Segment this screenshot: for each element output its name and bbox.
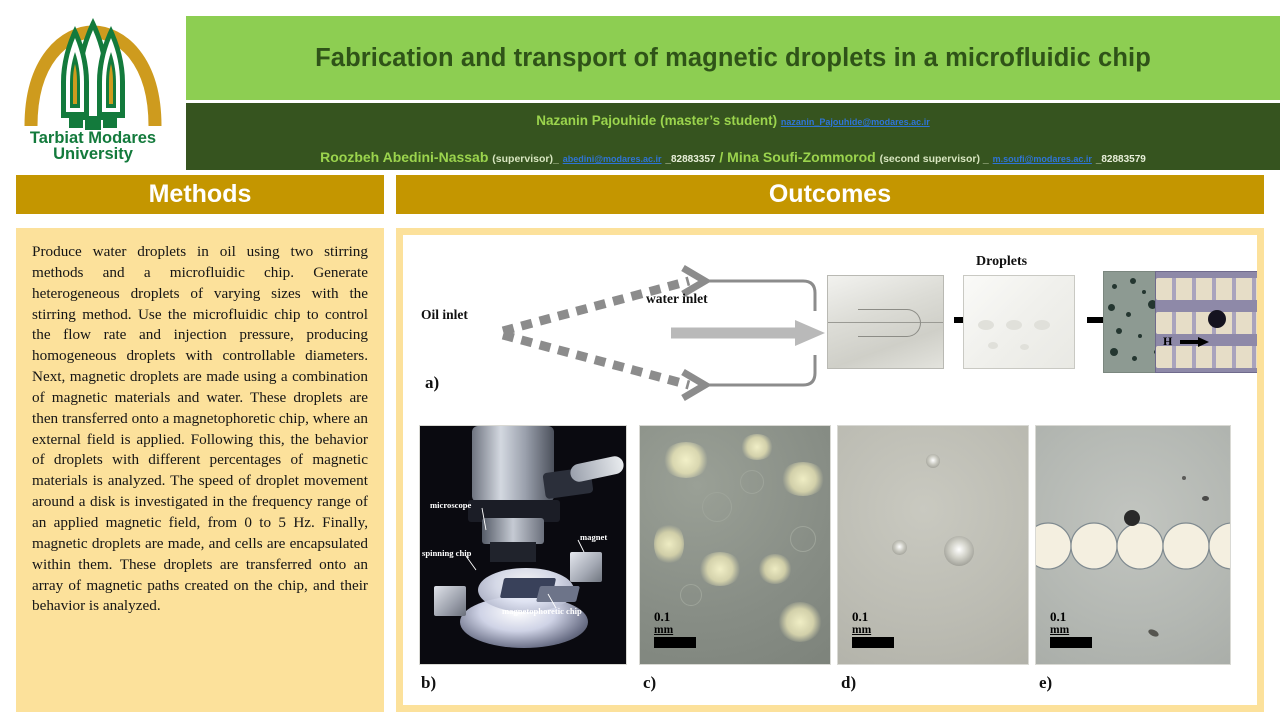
field-direction-arrow-icon xyxy=(1180,336,1210,348)
scale-bar-rect-d xyxy=(852,637,894,648)
label-magnet: magnet xyxy=(580,532,607,542)
label-magnetophoretic-chip: magnetophoretic chip xyxy=(502,606,582,616)
field-label-H: H xyxy=(1163,334,1172,349)
figure-a-schematic: H Oil inlet water inlet Droplets a) xyxy=(403,235,1257,411)
chip-blob xyxy=(1020,344,1029,350)
scale-value-d: 0.1 xyxy=(852,610,894,624)
label-microscope: microscope xyxy=(430,500,471,510)
panel-letter-d: d) xyxy=(841,673,856,693)
poster-title-bar: Fabrication and transport of magnetic dr… xyxy=(186,16,1280,100)
methods-panel: Produce water droplets in oil using two … xyxy=(16,228,384,712)
methods-body-text: Produce water droplets in oil using two … xyxy=(32,242,368,617)
scale-unit-e: mm xyxy=(1050,624,1092,636)
author-separator: / xyxy=(719,149,723,165)
student-role: (master’s student) xyxy=(660,113,777,128)
page-title: Fabrication and transport of magnetic dr… xyxy=(315,44,1151,73)
supervisor-email-link[interactable]: abedini@modares.ac.ir xyxy=(563,154,662,164)
micrograph-row: microscope magnet spinning chip magnetop… xyxy=(403,425,1257,670)
outcomes-figure-area: H Oil inlet water inlet Droplets a) xyxy=(403,235,1257,705)
section-header-methods: Methods xyxy=(16,175,384,214)
university-logo: Tarbiat Modares University xyxy=(0,0,185,170)
magnetic-disk-track-icon xyxy=(1036,520,1230,572)
second-supervisor-phone: _82883579 xyxy=(1096,154,1146,165)
outcomes-panel: H Oil inlet water inlet Droplets a) xyxy=(396,228,1264,712)
second-supervisor-name: Mina Soufi-Zommorod xyxy=(727,149,876,165)
callout-leader-lines xyxy=(420,426,627,665)
droplet xyxy=(944,536,974,566)
panel-letter-b: b) xyxy=(421,673,436,693)
figure-c-heterogeneous-droplets: 0.1 mm xyxy=(639,425,831,665)
scale-bar-d: 0.1 mm xyxy=(852,610,894,648)
scale-unit-d: mm xyxy=(852,624,894,636)
scale-bar-rect-c xyxy=(654,637,696,648)
figure-d-homogeneous-droplets: 0.1 mm xyxy=(837,425,1029,665)
chip-blob xyxy=(988,342,998,349)
chip-blob xyxy=(1006,320,1022,330)
second-supervisor-role: (second supervisor) _ xyxy=(880,153,989,165)
student-name: Nazanin Pajouhide xyxy=(536,113,656,128)
figure-e-magnetic-track: 0.1 mm xyxy=(1035,425,1231,665)
magnetic-droplet-on-track xyxy=(1124,510,1140,526)
scale-value-c: 0.1 xyxy=(654,610,696,624)
supervisor-name: Roozbeh Abedini-Nassab xyxy=(320,149,488,165)
tarbiat-modares-university-logo-icon: Tarbiat Modares University xyxy=(13,8,173,163)
supervisor-role: (supervisor)_ xyxy=(492,153,559,165)
student-email-link[interactable]: nazanin_Pajouhide@modares.ac.ir xyxy=(781,117,930,127)
author-line-student: Nazanin Pajouhide (master’s student) naz… xyxy=(186,113,1280,130)
scale-unit-c: mm xyxy=(654,624,696,636)
scale-bar-e: 0.1 mm xyxy=(1050,610,1092,648)
magnetic-track-array-photo: H xyxy=(1155,271,1257,373)
water-inlet-label: water inlet xyxy=(646,291,708,307)
scale-bar-rect-e xyxy=(1050,637,1092,648)
panel-letter-e: e) xyxy=(1039,673,1052,693)
outcomes-heading: Outcomes xyxy=(769,180,891,209)
panel-letter-a: a) xyxy=(425,373,439,393)
figure-b-microscope-setup: microscope magnet spinning chip magnetop… xyxy=(419,425,627,665)
author-line-supervisors: Roozbeh Abedini-Nassab (supervisor)_ abe… xyxy=(186,149,1280,168)
chip-blob xyxy=(1034,320,1050,330)
scale-value-e: 0.1 xyxy=(1050,610,1092,624)
section-header-outcomes: Outcomes xyxy=(396,175,1264,214)
panel-letter-row: b) c) d) e) xyxy=(403,669,1257,705)
channel-tip xyxy=(858,309,921,337)
magnetic-droplet xyxy=(1208,310,1226,328)
authors-bar: Nazanin Pajouhide (master’s student) naz… xyxy=(186,103,1280,170)
chip-outlet-photo xyxy=(963,275,1075,369)
oil-inlet-label: Oil inlet xyxy=(421,307,468,323)
droplet xyxy=(926,454,940,468)
supervisor-phone: _82883357 xyxy=(665,154,715,165)
poster-root: Tarbiat Modares University Fabrication a… xyxy=(0,0,1280,720)
droplets-label: Droplets xyxy=(976,254,1027,270)
scale-bar-c: 0.1 mm xyxy=(654,610,696,648)
panel-letter-c: c) xyxy=(643,673,656,693)
label-spinning-chip: spinning chip xyxy=(422,548,471,558)
logo-line2: University xyxy=(53,145,134,163)
methods-heading: Methods xyxy=(149,180,252,209)
flow-focusing-junction-photo xyxy=(827,275,944,369)
second-supervisor-email-link[interactable]: m.soufi@modares.ac.ir xyxy=(993,154,1092,164)
droplet xyxy=(892,540,907,555)
chip-blob xyxy=(978,320,994,330)
